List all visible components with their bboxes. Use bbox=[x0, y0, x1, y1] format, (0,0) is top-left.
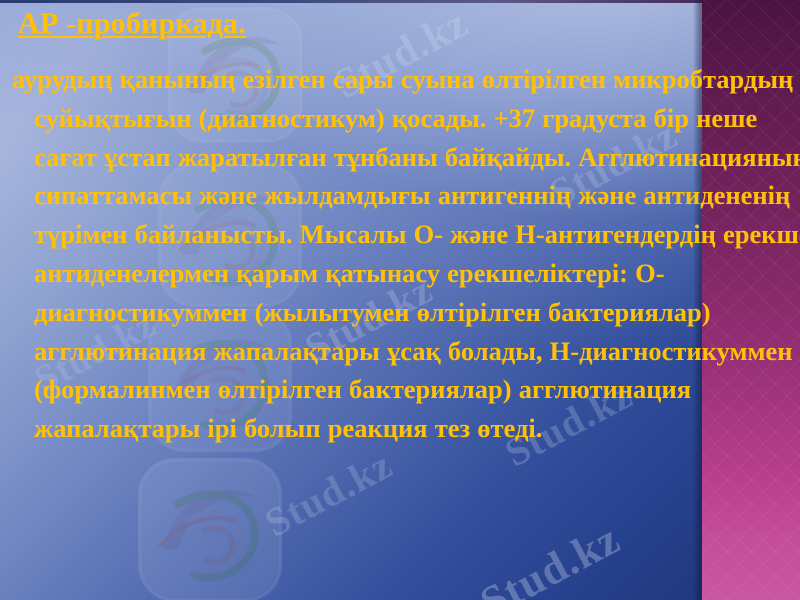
presentation-slide: Stud.kzStud.kzStud.kzStud.kzStud.kzStud.… bbox=[0, 0, 800, 600]
slide-body-text: аурудың қанының езілген сары суына өлтір… bbox=[12, 60, 800, 448]
logo-watermark-icon bbox=[130, 450, 290, 600]
top-divider-rule bbox=[0, 0, 800, 3]
slide-title: АР -пробиркада. bbox=[18, 7, 246, 41]
studkz-watermark: Stud.kz bbox=[472, 513, 628, 600]
studkz-watermark: Stud.kz bbox=[257, 441, 400, 547]
